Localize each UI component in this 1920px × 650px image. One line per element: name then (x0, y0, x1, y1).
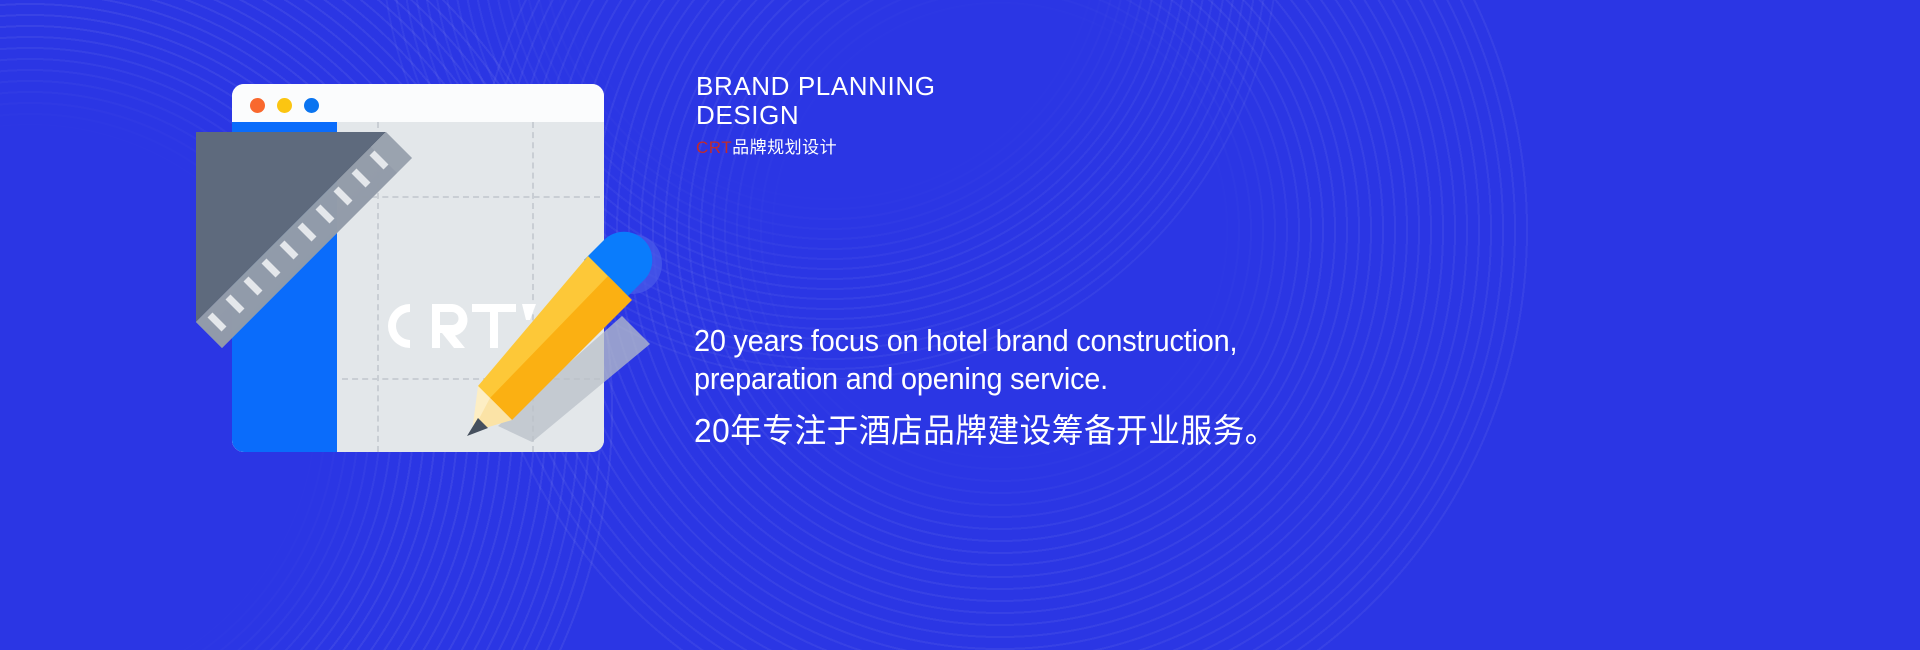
brand-design-illustration (232, 84, 604, 452)
headline-chinese-text: 品牌规划设计 (732, 138, 837, 157)
tagline-english: 20 years focus on hotel brand constructi… (694, 322, 1364, 398)
minimize-dot (277, 98, 292, 113)
set-square-ruler-icon (190, 126, 434, 370)
headline-crt-mark: CRT (696, 138, 732, 157)
maximize-dot (304, 98, 319, 113)
tagline-chinese: 20年专注于酒店品牌建设筹备开业服务。 (694, 410, 1385, 452)
headline-block: BRAND PLANNING DESIGN CRT品牌规划设计 (696, 72, 1336, 159)
pencil-icon (454, 220, 674, 450)
headline-chinese: CRT品牌规划设计 (696, 137, 1336, 159)
headline-english: BRAND PLANNING DESIGN (696, 72, 1336, 130)
close-dot (250, 98, 265, 113)
window-titlebar (232, 84, 604, 122)
brand-banner: BRAND PLANNING DESIGN CRT品牌规划设计 20 years… (0, 0, 1920, 650)
tagline-block: 20 years focus on hotel brand constructi… (694, 322, 1414, 452)
